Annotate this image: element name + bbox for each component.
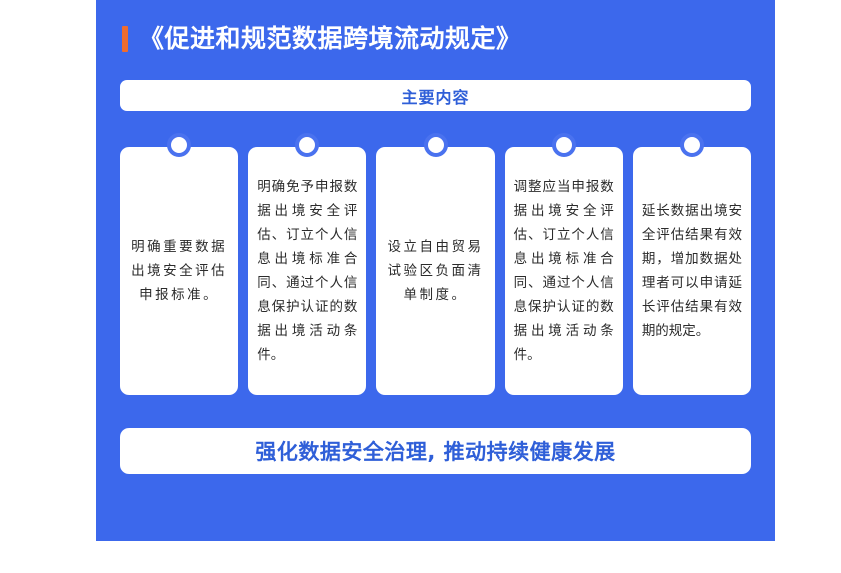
infographic-poster: 《促进和规范数据跨境流动规定》 主要内容 明确重要数据出境安全评估申报标准。 明… xyxy=(96,0,775,541)
page-title: 《促进和规范数据跨境流动规定》 xyxy=(139,24,522,54)
poster-title-row: 《促进和规范数据跨境流动规定》 xyxy=(122,22,522,56)
card-body-5: 延长数据出境安全评估结果有效期，增加数据处理者可以申请延长评估结果有效期的规定。 xyxy=(633,147,751,395)
content-card-3: 设立自由贸易试验区负面清单制度。 xyxy=(376,133,494,395)
card-text-2: 明确免予申报数据出境安全评估、订立个人信息出境标准合同、通过个人信息保护认证的数… xyxy=(257,175,357,367)
card-body-2: 明确免予申报数据出境安全评估、订立个人信息出境标准合同、通过个人信息保护认证的数… xyxy=(248,147,366,395)
content-card-1: 明确重要数据出境安全评估申报标准。 xyxy=(120,133,238,395)
page-root: 《促进和规范数据跨境流动规定》 主要内容 明确重要数据出境安全评估申报标准。 明… xyxy=(0,0,841,573)
content-card-5: 延长数据出境安全评估结果有效期，增加数据处理者可以申请延长评估结果有效期的规定。 xyxy=(633,133,751,395)
card-text-5: 延长数据出境安全评估结果有效期，增加数据处理者可以申请延长评估结果有效期的规定。 xyxy=(642,199,742,343)
card-marker-dot-icon xyxy=(552,133,576,157)
card-text-3: 设立自由贸易试验区负面清单制度。 xyxy=(385,235,485,307)
card-body-4: 调整应当申报数据出境安全评估、订立个人信息出境标准合同、通过个人信息保护认证的数… xyxy=(505,147,623,395)
footer-banner: 强化数据安全治理, 推动持续健康发展 xyxy=(120,428,751,474)
content-cards-row: 明确重要数据出境安全评估申报标准。 明确免予申报数据出境安全评估、订立个人信息出… xyxy=(120,133,751,395)
card-marker-dot-icon xyxy=(680,133,704,157)
card-body-3: 设立自由贸易试验区负面清单制度。 xyxy=(376,147,494,395)
content-card-4: 调整应当申报数据出境安全评估、订立个人信息出境标准合同、通过个人信息保护认证的数… xyxy=(505,133,623,395)
footer-slogan: 强化数据安全治理, 推动持续健康发展 xyxy=(255,436,615,466)
subtitle-banner: 主要内容 xyxy=(120,80,751,111)
card-marker-dot-icon xyxy=(424,133,448,157)
card-text-4: 调整应当申报数据出境安全评估、订立个人信息出境标准合同、通过个人信息保护认证的数… xyxy=(514,175,614,367)
card-marker-dot-icon xyxy=(295,133,319,157)
card-body-1: 明确重要数据出境安全评估申报标准。 xyxy=(120,147,238,395)
subtitle-label: 主要内容 xyxy=(401,84,469,108)
content-card-2: 明确免予申报数据出境安全评估、订立个人信息出境标准合同、通过个人信息保护认证的数… xyxy=(248,133,366,395)
card-marker-dot-icon xyxy=(167,133,191,157)
card-text-1: 明确重要数据出境安全评估申报标准。 xyxy=(129,235,229,307)
title-accent-bar xyxy=(122,26,128,52)
